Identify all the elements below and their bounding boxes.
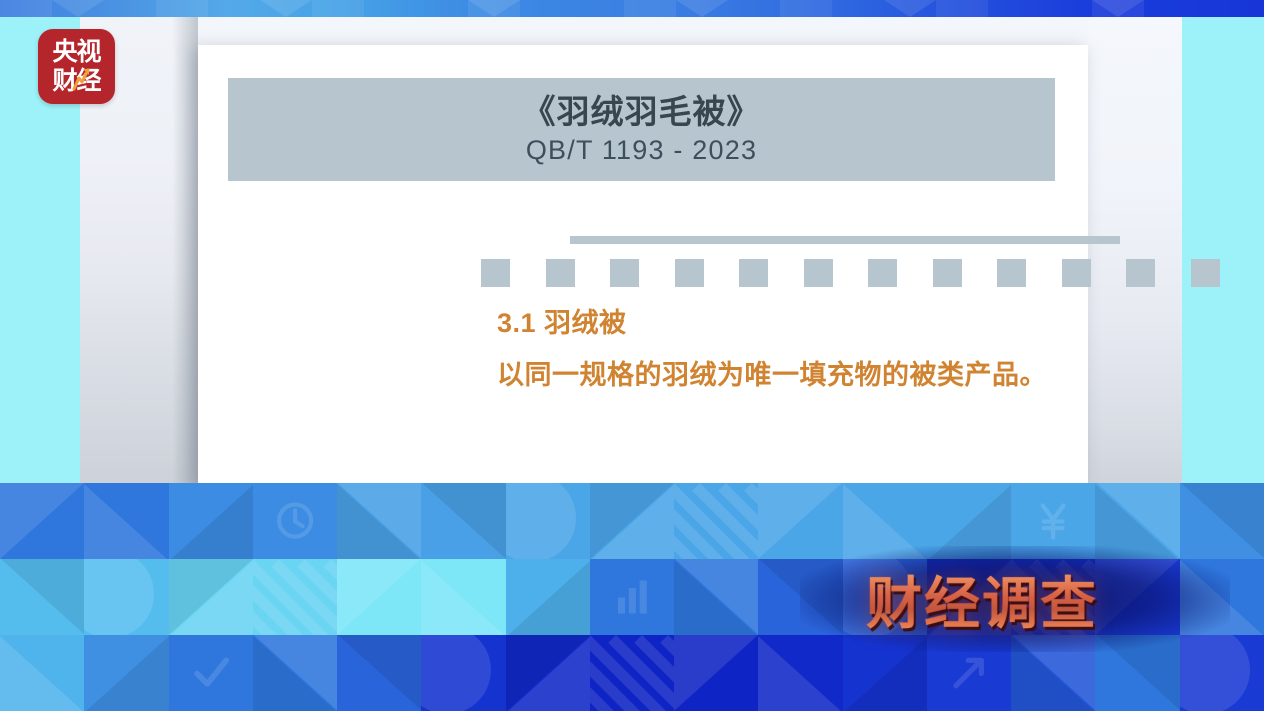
mosaic-triangle	[338, 635, 422, 711]
section-heading: 3.1 羽绒被	[497, 303, 1197, 344]
mosaic-tile	[927, 483, 1012, 560]
mosaic-triangle	[1180, 560, 1264, 636]
cctv-finance-logo: 央视 财经	[38, 29, 115, 104]
strip-triangle	[1092, 0, 1144, 17]
logo-growth-arrow-icon	[72, 67, 90, 91]
mosaic-tile	[253, 559, 338, 636]
mosaic-triangle	[422, 483, 506, 559]
mosaic-circle	[1180, 635, 1250, 711]
strip-triangle	[52, 0, 104, 17]
placeholder-square	[481, 259, 510, 287]
mosaic-tile	[253, 483, 338, 560]
placeholder-square-row	[481, 259, 1211, 287]
mosaic-tile	[337, 559, 422, 636]
mosaic-tile	[1095, 559, 1180, 636]
mosaic-tile	[169, 483, 254, 560]
mosaic-tile	[590, 635, 675, 711]
mosaic-triangle	[758, 636, 842, 711]
mosaic-tile	[421, 483, 506, 560]
mosaic-triangle	[928, 484, 1012, 560]
strip-tile	[312, 0, 364, 17]
mosaic-triangle	[759, 559, 843, 635]
mosaic-triangle	[843, 484, 927, 560]
backdrop-gradient-right	[1088, 17, 1182, 483]
mosaic-triangle	[170, 484, 254, 560]
placeholder-square	[610, 259, 639, 287]
strip-tile	[936, 0, 988, 17]
mosaic-triangle	[507, 560, 591, 636]
strip-tile	[156, 0, 208, 17]
placeholder-square	[1126, 259, 1155, 287]
strip-triangle	[676, 0, 728, 17]
placeholder-square	[804, 259, 833, 287]
mosaic-tile	[1095, 635, 1180, 711]
strip-tile	[780, 0, 832, 17]
mosaic-tile	[506, 483, 591, 560]
mosaic-tile	[1180, 483, 1264, 560]
backdrop-cyan-right	[1182, 17, 1264, 483]
mosaic-tile	[506, 635, 591, 711]
checkmark-icon	[185, 649, 237, 696]
mosaic-tile	[674, 483, 759, 560]
mosaic-tile	[421, 559, 506, 636]
mosaic-triangle	[1, 559, 85, 635]
mosaic-tile	[758, 483, 843, 560]
mosaic-tile	[1011, 635, 1096, 711]
placeholder-square	[1191, 259, 1220, 287]
mosaic-triangle	[1097, 635, 1181, 711]
placeholder-square	[546, 259, 575, 287]
mosaic-triangle	[507, 636, 591, 711]
mosaic-triangle	[1095, 484, 1179, 560]
mosaic-tile	[758, 635, 843, 711]
mosaic-triangle	[1095, 559, 1179, 635]
mosaic-triangle	[337, 484, 421, 560]
bar-chart-icon	[606, 573, 658, 620]
mosaic-tile	[927, 635, 1012, 711]
mosaic-tile	[506, 559, 591, 636]
mosaic-triangle	[674, 635, 758, 711]
mosaic-tile	[843, 635, 928, 711]
mosaic-tile	[0, 483, 85, 560]
mosaic-triangle	[758, 483, 842, 559]
mosaic-triangle	[591, 484, 675, 560]
mosaic-tile	[84, 635, 169, 711]
program-watermark-title: 财经调查	[866, 559, 1098, 640]
mosaic-triangle	[84, 484, 168, 560]
mosaic-circle	[84, 559, 154, 636]
mosaic-tile	[169, 559, 254, 636]
mosaic-tile	[84, 483, 169, 560]
broadcast-frame: 《羽绒羽毛被》 QB/T 1193 - 2023 3.1 羽绒被 以同一规格的羽…	[0, 0, 1264, 711]
placeholder-square	[675, 259, 704, 287]
mosaic-tile	[1095, 483, 1180, 560]
mosaic-triangle	[421, 560, 505, 636]
logo-text-line1: 央视	[38, 40, 115, 65]
mosaic-triangle	[1181, 483, 1264, 559]
document-standard-code: QB/T 1193 - 2023	[526, 135, 757, 166]
mosaic-triangle	[0, 483, 84, 559]
document-panel: 《羽绒羽毛被》 QB/T 1193 - 2023 3.1 羽绒被 以同一规格的羽…	[198, 45, 1088, 483]
strip-triangle	[468, 0, 520, 17]
placeholder-square	[933, 259, 962, 287]
mosaic-triangle	[1011, 636, 1095, 711]
placeholder-square	[868, 259, 897, 287]
placeholder-square	[997, 259, 1026, 287]
header-underline-bar	[570, 236, 1120, 244]
strip-tile	[624, 0, 676, 17]
mosaic-tile	[590, 559, 675, 636]
mosaic-tile	[1011, 483, 1096, 560]
top-decorative-strip	[0, 0, 1264, 17]
document-title: 《羽绒羽毛被》	[523, 93, 761, 132]
mosaic-triangle	[674, 560, 758, 636]
mosaic-tile	[169, 635, 254, 711]
strip-triangle	[884, 0, 936, 17]
mosaic-tile	[590, 483, 675, 560]
yen-currency-icon	[1027, 497, 1079, 544]
strip-tile	[0, 0, 52, 17]
mosaic-tile	[337, 635, 422, 711]
mosaic-triangle	[85, 636, 169, 711]
mosaic-tile	[843, 483, 928, 560]
mosaic-circle	[421, 635, 491, 711]
placeholder-square	[1062, 259, 1091, 287]
mosaic-tile	[674, 635, 759, 711]
document-header-banner: 《羽绒羽毛被》 QB/T 1193 - 2023	[228, 78, 1055, 181]
mosaic-tile	[1180, 559, 1264, 636]
mosaic-triangle	[253, 636, 337, 711]
mosaic-tile	[758, 559, 843, 636]
mosaic-tile	[0, 559, 85, 636]
mosaic-triangle	[170, 560, 254, 636]
strip-triangle	[260, 0, 312, 17]
mosaic-tile	[421, 635, 506, 711]
document-body: 3.1 羽绒被 以同一规格的羽绒为唯一填充物的被类产品。	[497, 303, 1197, 395]
section-definition-text: 以同一规格的羽绒为唯一填充物的被类产品。	[497, 355, 1197, 396]
arrow-up-right-icon	[943, 649, 995, 696]
mosaic-triangle	[0, 636, 84, 711]
mosaic-tile	[337, 483, 422, 560]
mosaic-tile	[253, 635, 338, 711]
mosaic-tile	[0, 635, 85, 711]
mosaic-tile	[1180, 635, 1264, 711]
placeholder-square	[739, 259, 768, 287]
mosaic-circle	[506, 483, 576, 560]
mosaic-tile	[84, 559, 169, 636]
mosaic-tile	[674, 559, 759, 636]
mosaic-triangle	[337, 559, 421, 635]
mosaic-triangle	[844, 636, 928, 711]
clock-icon	[269, 497, 321, 544]
